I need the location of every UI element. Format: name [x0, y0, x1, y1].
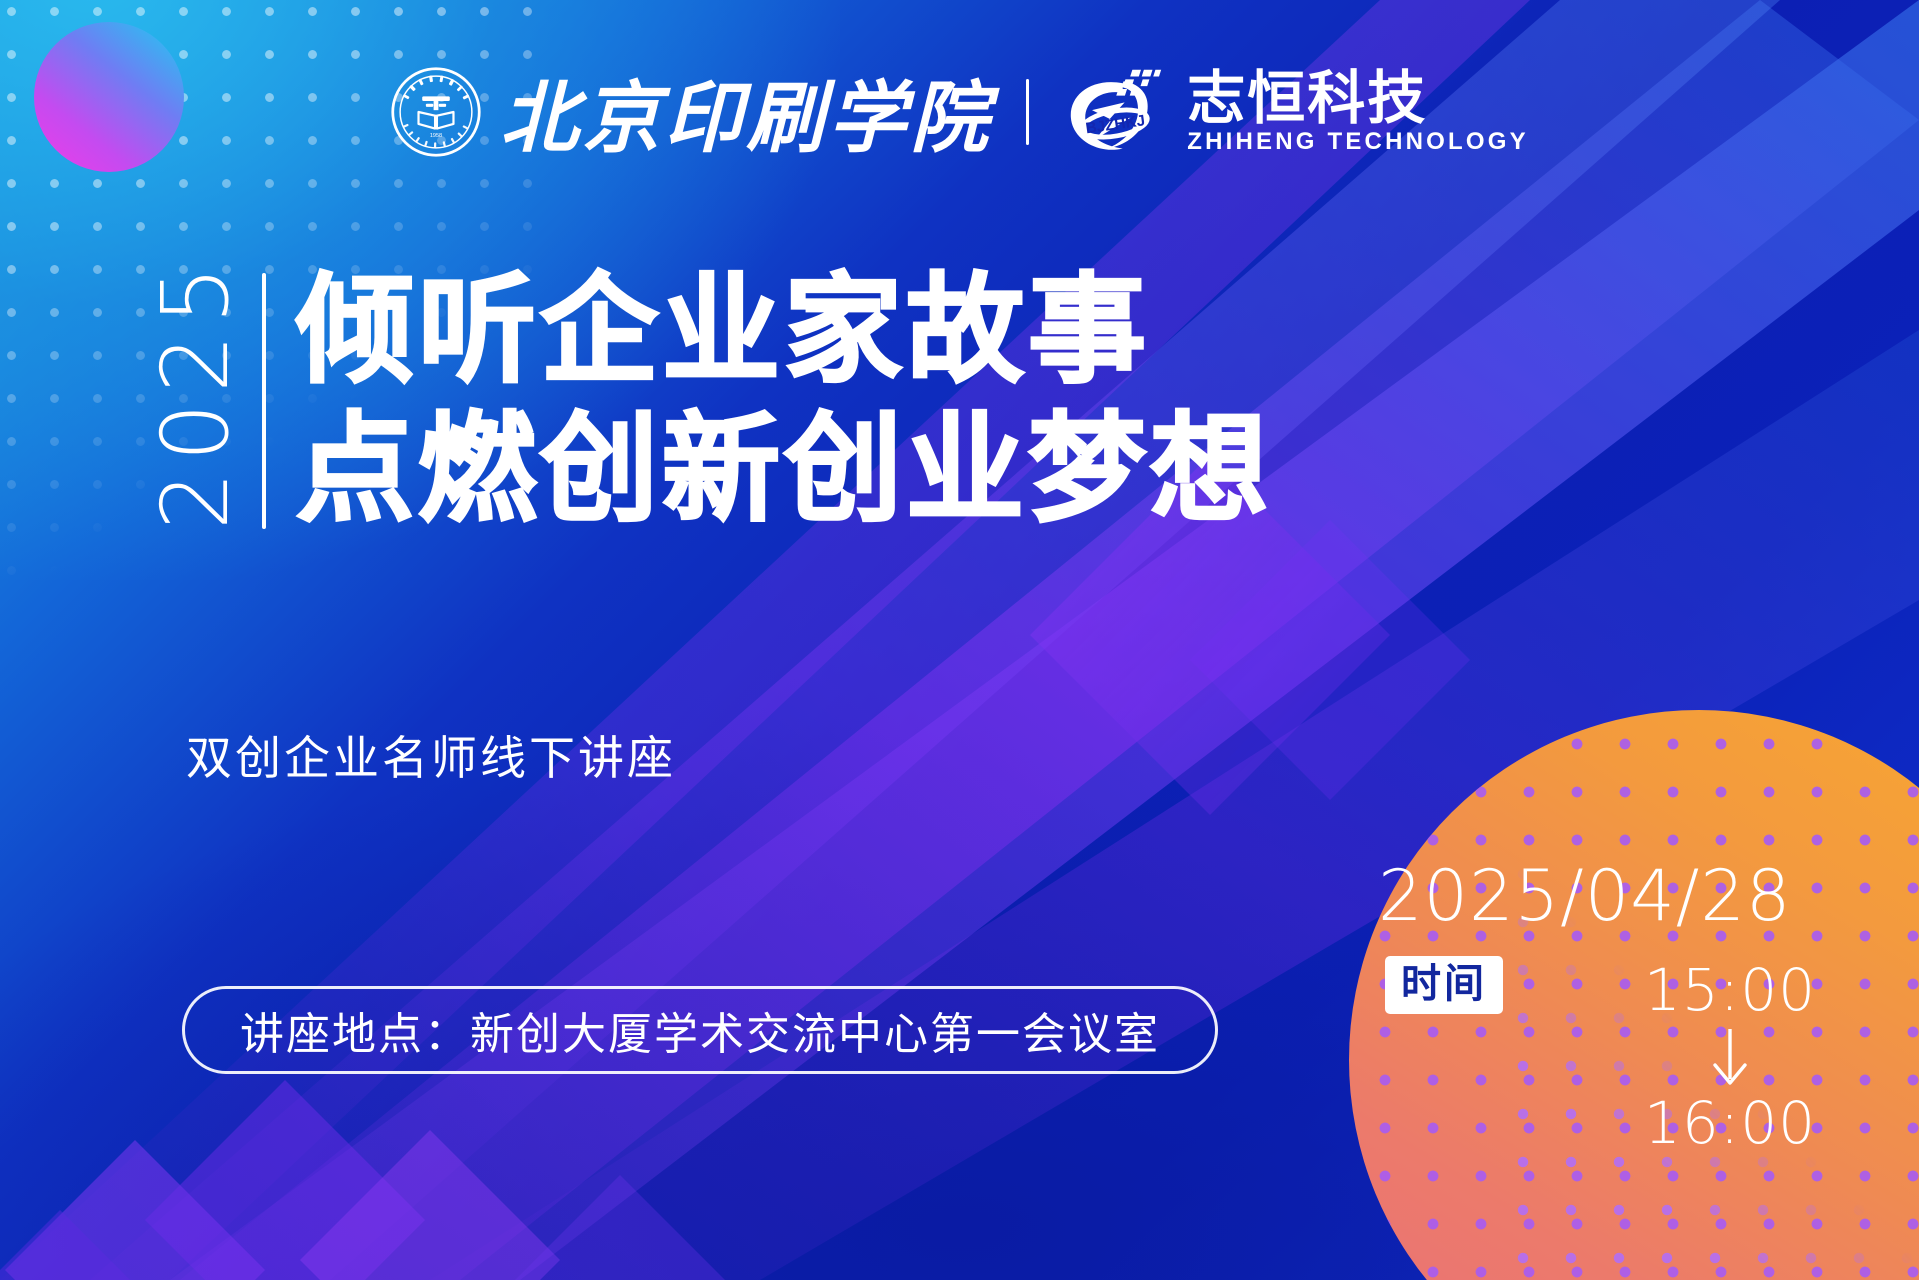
venue-pill: 讲座地点：新创大厦学术交流中心第一会议室 [182, 986, 1218, 1074]
headline: 倾听企业家故事 点燃创新创业梦想 [296, 262, 1272, 540]
start-time: 15:00 [1644, 960, 1816, 1021]
time-range: 15:00 16:00 [1600, 960, 1860, 1154]
venue-text: 讲座地点：新创大厦学术交流中心第一会议室 [240, 998, 1160, 1062]
company-name-block: 志恒科技 ZHIHENG TECHNOLOGY [1187, 70, 1529, 154]
company-name-en: ZHIHENG TECHNOLOGY [1187, 130, 1529, 154]
company-logo: BJZHKJ 志恒科技 ZHIHENG TECHNOLOGY [1063, 64, 1529, 160]
bjzhkj-swoosh-icon: BJZHKJ [1063, 64, 1169, 160]
headline-line-1: 倾听企业家故事 [296, 262, 1272, 401]
company-name-cn: 志恒科技 [1187, 70, 1529, 128]
university-name-text: 北京印刷学院 [500, 56, 992, 168]
main-title-block: 2025 倾听企业家故事 点燃创新创业梦想 [150, 262, 1272, 540]
end-time: 16:00 [1644, 1093, 1816, 1154]
time-badge: 时间 [1385, 956, 1503, 1014]
university-name-cn: 北京印刷学院 [500, 73, 992, 151]
event-poster: 1958 北京印刷学院 [0, 0, 1919, 1280]
event-date: 2025/04/28 [1378, 855, 1791, 937]
rhombus-cluster-icon [0, 455, 1470, 1280]
title-divider-icon [262, 273, 266, 529]
bigc-seal-icon: 1958 [390, 66, 482, 158]
logo-divider-icon [1026, 79, 1029, 145]
headline-line-2: 点燃创新创业梦想 [296, 401, 1272, 540]
subtitle: 双创企业名师线下讲座 [186, 722, 676, 788]
year-label: 2025 [150, 262, 242, 524]
svg-text:1958: 1958 [430, 133, 442, 139]
university-logo: 1958 北京印刷学院 [390, 66, 992, 158]
arrow-down-icon [1708, 1025, 1752, 1091]
header-logos: 1958 北京印刷学院 [0, 64, 1919, 160]
